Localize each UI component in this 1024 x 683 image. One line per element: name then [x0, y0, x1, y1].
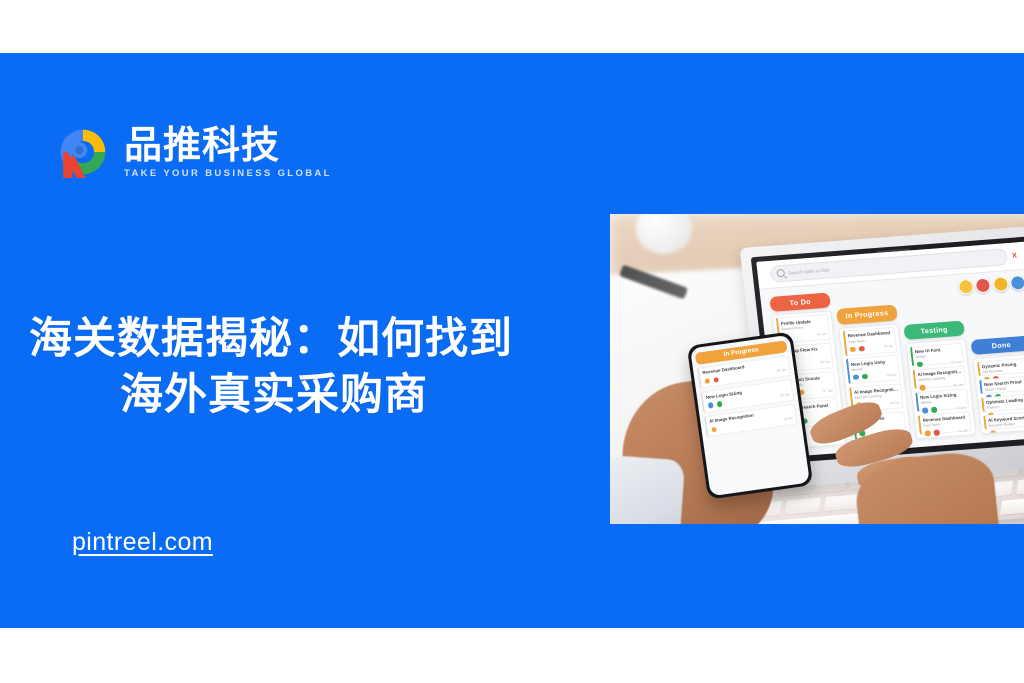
kanban-card-footer: 06 Jan [852, 370, 897, 381]
assignee-avatar[interactable] [924, 429, 932, 437]
kanban-column: DoneDynamic PricingSell Business01 JanNe… [971, 335, 1024, 434]
assignee-avatar[interactable] [715, 400, 723, 408]
kanban-card-due-date: 05 Jan [953, 382, 963, 387]
kanban-card-footer: 11 Jan [924, 426, 969, 437]
kanban-column-header[interactable]: In Progress [836, 305, 897, 325]
top-white-band [0, 0, 1024, 53]
assignee-avatar[interactable] [852, 373, 860, 381]
kanban-card-due-date: 11 Jan [959, 428, 969, 433]
kanban-card[interactable]: New Search ProofSearch Squad03 Jan [979, 375, 1024, 394]
assignee-avatar[interactable] [706, 401, 714, 409]
page-title: 海关数据揭秘：如何找到 海外真实采购商 [0, 312, 548, 424]
kanban-card-assignees [924, 429, 941, 438]
kanban-card-assignees [918, 383, 926, 391]
kanban-card-assignees [852, 372, 869, 381]
avatar[interactable] [992, 276, 1009, 292]
assignee-avatar[interactable] [857, 344, 865, 352]
kanban-card[interactable]: Revenue DashboardData Team11 Jan [917, 411, 972, 435]
assignee-avatar[interactable] [710, 425, 718, 433]
brand-tagline: TAKE YOUR BUSINESS GLOBAL [124, 168, 332, 179]
phone-card-due-date: 04 Jan [776, 368, 786, 373]
headline-line-2: 海外真实采购商 [0, 368, 548, 424]
assignee-avatar[interactable] [849, 345, 857, 353]
kanban-card[interactable]: New UI FontDesign02 Jan [909, 342, 964, 366]
bottom-white-band [0, 628, 1024, 683]
phone-card-assignees [703, 375, 720, 385]
kanban-card-due-date: 08 Jan [890, 400, 900, 405]
assignee-avatar[interactable] [916, 360, 924, 368]
assignee-avatar[interactable] [930, 406, 938, 414]
assignee-avatar[interactable] [711, 375, 719, 383]
slide-root: 品推科技 TAKE YOUR BUSINESS GLOBAL 海关数据揭秘：如何… [0, 0, 1024, 683]
brand-name: 品推科技 [124, 127, 332, 166]
phone-card-due-date: 06 Jan [780, 392, 790, 397]
brand-text: 品推科技 TAKE YOUR BUSINESS GLOBAL [124, 125, 332, 180]
headline-line-1: 海关数据揭秘：如何找到 [0, 312, 548, 368]
kanban-card-list: Dynamic PricingSell Business01 JanNew Se… [973, 353, 1024, 434]
assignee-avatar[interactable] [703, 377, 711, 385]
smartphone: In Progress Revenue Dashboard04 JanNew L… [686, 331, 813, 499]
phone-card-list: Revenue Dashboard04 JanNew Login Sizing0… [696, 355, 797, 438]
kanban-card[interactable]: Dynamic PricingSell Business01 Jan [977, 357, 1024, 376]
kanban-card-due-date: 03 Jan [817, 331, 827, 336]
kanban-column-header[interactable]: Done [971, 335, 1024, 355]
avatar[interactable] [957, 279, 974, 295]
assignee-avatar[interactable] [932, 429, 940, 437]
kanban-card-due-date: 02 Jan [951, 359, 961, 364]
avatar[interactable] [975, 277, 992, 293]
phone-screen: In Progress Revenue Dashboard04 JanNew L… [690, 335, 810, 496]
assignee-avatar[interactable] [861, 372, 869, 380]
site-url-link[interactable]: pintreel.com [72, 528, 213, 557]
kanban-card-assignees [849, 344, 866, 353]
kanban-card-footer: 04 Jan [849, 342, 894, 353]
kanban-card[interactable]: Optimize Loading TimePlatform06 Jan [981, 393, 1024, 412]
search-icon [777, 269, 786, 278]
phone-card-due-date: 08 Jan [783, 416, 793, 421]
kanban-card-list: New UI FontDesign02 JanAI Image Recognit… [906, 338, 976, 439]
phone-card-assignees [710, 425, 718, 433]
pintreel-p-ring-logo-icon [52, 121, 114, 183]
kanban-card[interactable]: AI Keyword ScoringResearch Budget09 Jan [983, 411, 1024, 430]
kanban-card-due-date: 06 Jan [887, 372, 897, 377]
assignee-avatar[interactable] [921, 406, 929, 414]
blue-canvas: 品推科技 TAKE YOUR BUSINESS GLOBAL 海关数据揭秘：如何… [0, 53, 1024, 628]
avatar[interactable] [1009, 275, 1024, 291]
kanban-card[interactable]: Revenue DashboardData Team04 Jan [842, 327, 897, 356]
assignee-avatar[interactable] [918, 383, 926, 391]
phone-card-assignees [706, 400, 723, 410]
kanban-card[interactable]: AI Image RecognitionMachine Learning05 J… [912, 365, 967, 389]
kanban-card[interactable]: New Login UnityIdentity06 Jan [846, 355, 901, 384]
kanban-card-assignees [916, 360, 924, 368]
kanban-card[interactable]: New Login SizingIdentity07 Jan [915, 388, 970, 412]
kanban-card-due-date: 04 Jan [883, 344, 893, 349]
kanban-card-assignees [989, 429, 997, 434]
kanban-column-header[interactable]: To Do [770, 292, 831, 312]
kanban-card-due-date: 07 Jan [823, 388, 833, 393]
search-placeholder: Search tasks or lists [788, 267, 830, 275]
brand-logo: 品推科技 TAKE YOUR BUSINESS GLOBAL [52, 121, 332, 183]
hero-photo: Search tasks or lists X To DoProfile U [610, 214, 1024, 524]
kanban-column: TestingNew UI FontDesign02 JanAI Image R… [904, 320, 976, 439]
assignee-avatar[interactable] [989, 429, 997, 434]
kanban-column-header[interactable]: Testing [904, 320, 965, 340]
kanban-card-due-date: 07 Jan [956, 405, 966, 410]
kanban-card-due-date: 05 Jan [820, 359, 830, 364]
close-icon[interactable]: X [1012, 252, 1017, 259]
